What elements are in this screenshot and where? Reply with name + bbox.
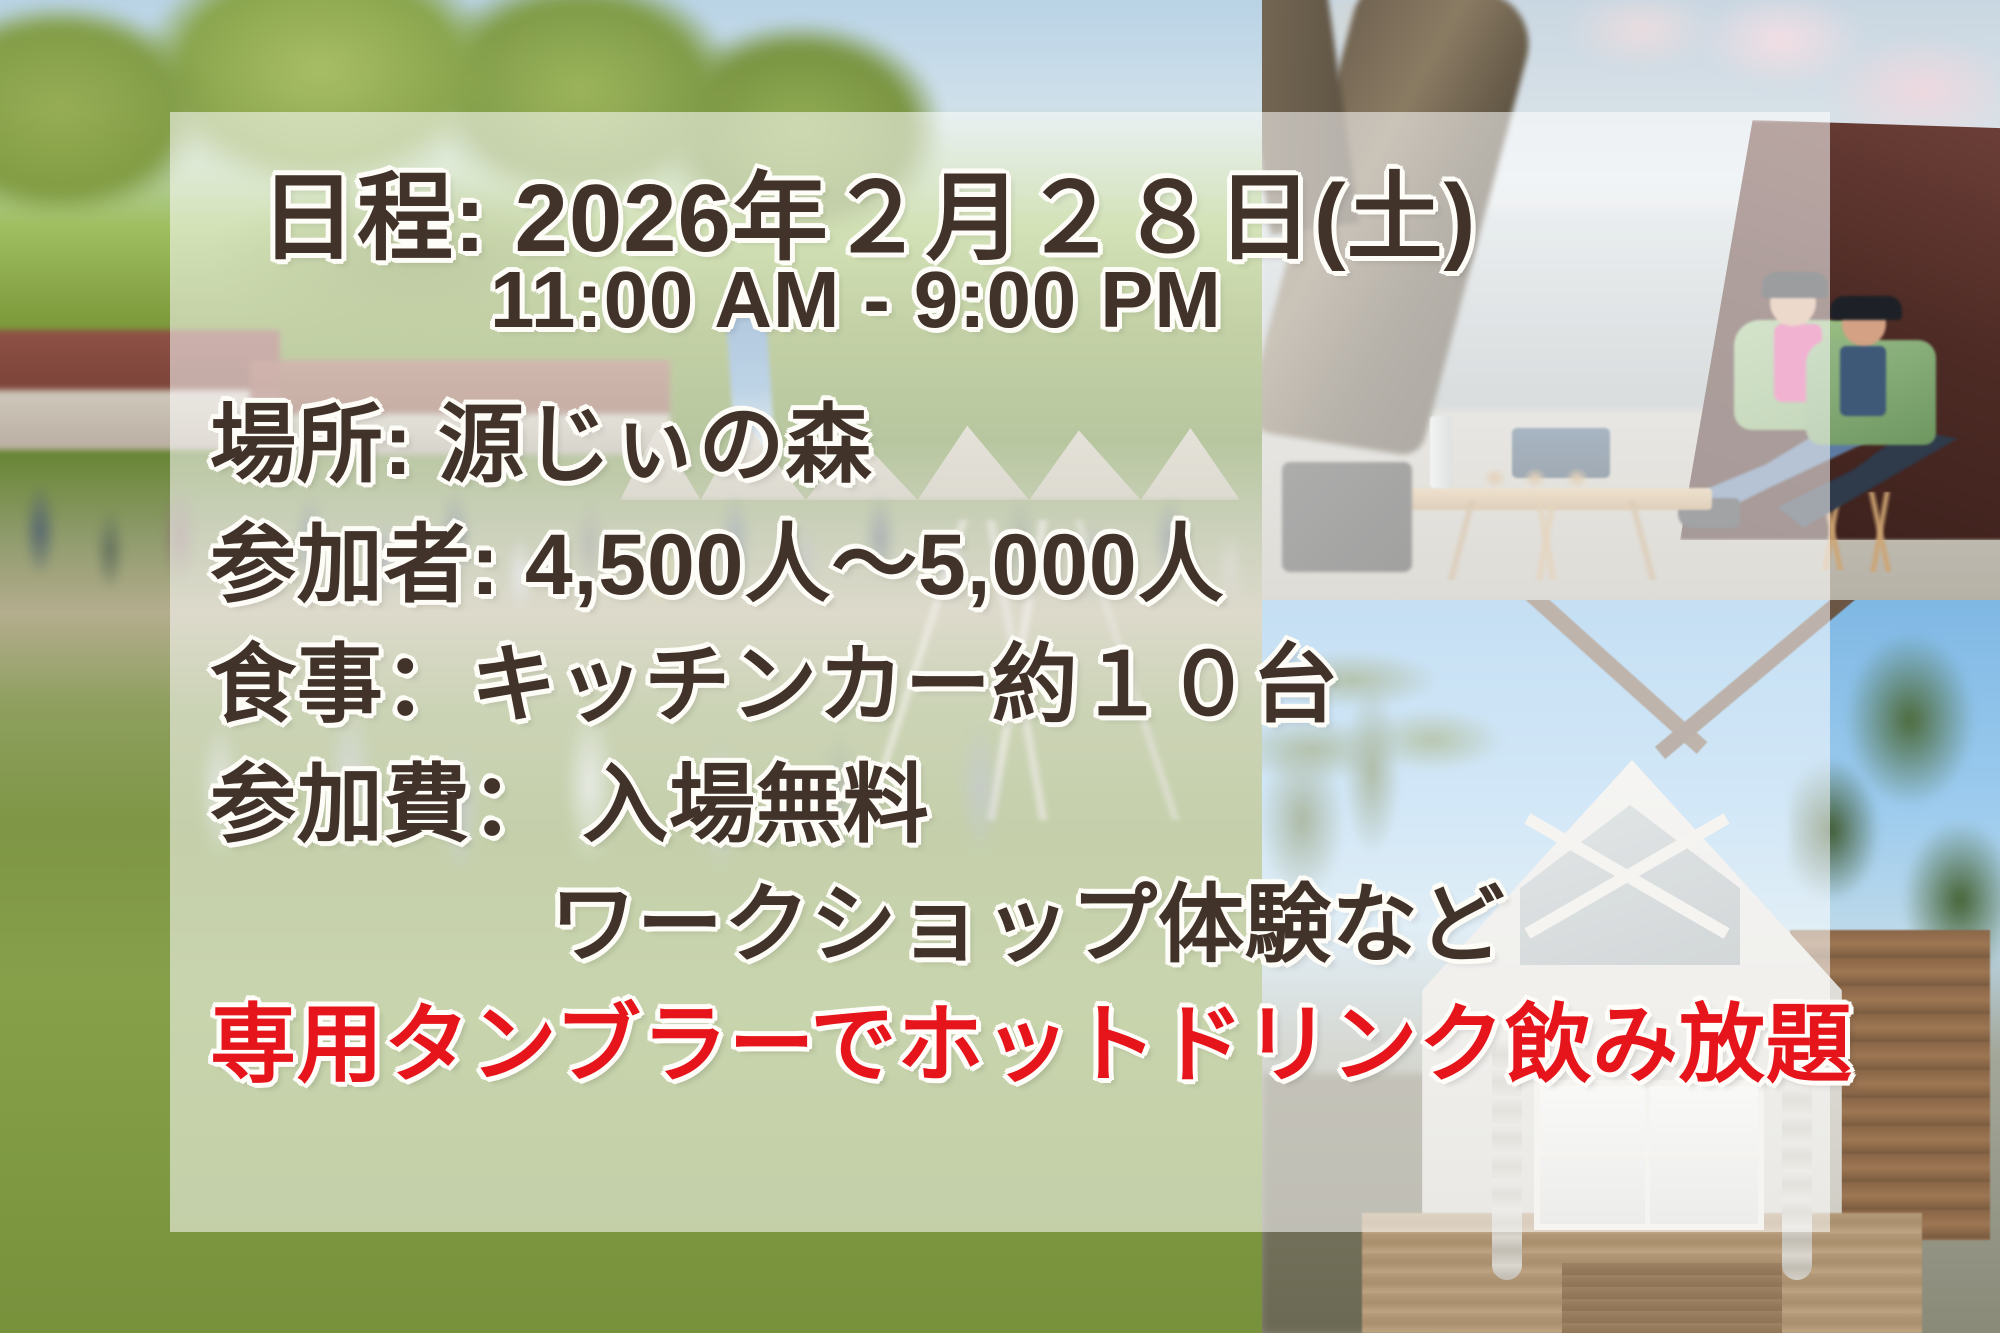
event-flyer: 日程: 2026年２月２８日(土) 11:00 AM - 9:00 PM 場所:… <box>0 0 2000 1333</box>
event-fee-line: 参加費： 入場無料 <box>210 734 930 859</box>
camper-cap-decor <box>1830 296 1902 320</box>
event-highlight-line: 専用タンブラーでホットドリンク飲み放題 <box>210 974 1853 1099</box>
event-food-line: 食事：キッチンカー約１０台 <box>210 614 1339 739</box>
cabin-steps-decor <box>1562 1263 1782 1333</box>
camper-overall-decor <box>1840 346 1886 416</box>
event-attendees-line: 参加者: 4,500人〜5,000人 <box>210 494 1224 619</box>
event-time-line: 11:00 AM - 9:00 PM <box>490 254 1222 346</box>
event-place-line: 場所: 源じぃの森 <box>210 374 872 499</box>
event-details-text-block: 日程: 2026年２月２８日(土) 11:00 AM - 9:00 PM 場所:… <box>170 112 1830 1232</box>
event-workshop-line: ワークショップ体験など <box>550 854 1505 979</box>
